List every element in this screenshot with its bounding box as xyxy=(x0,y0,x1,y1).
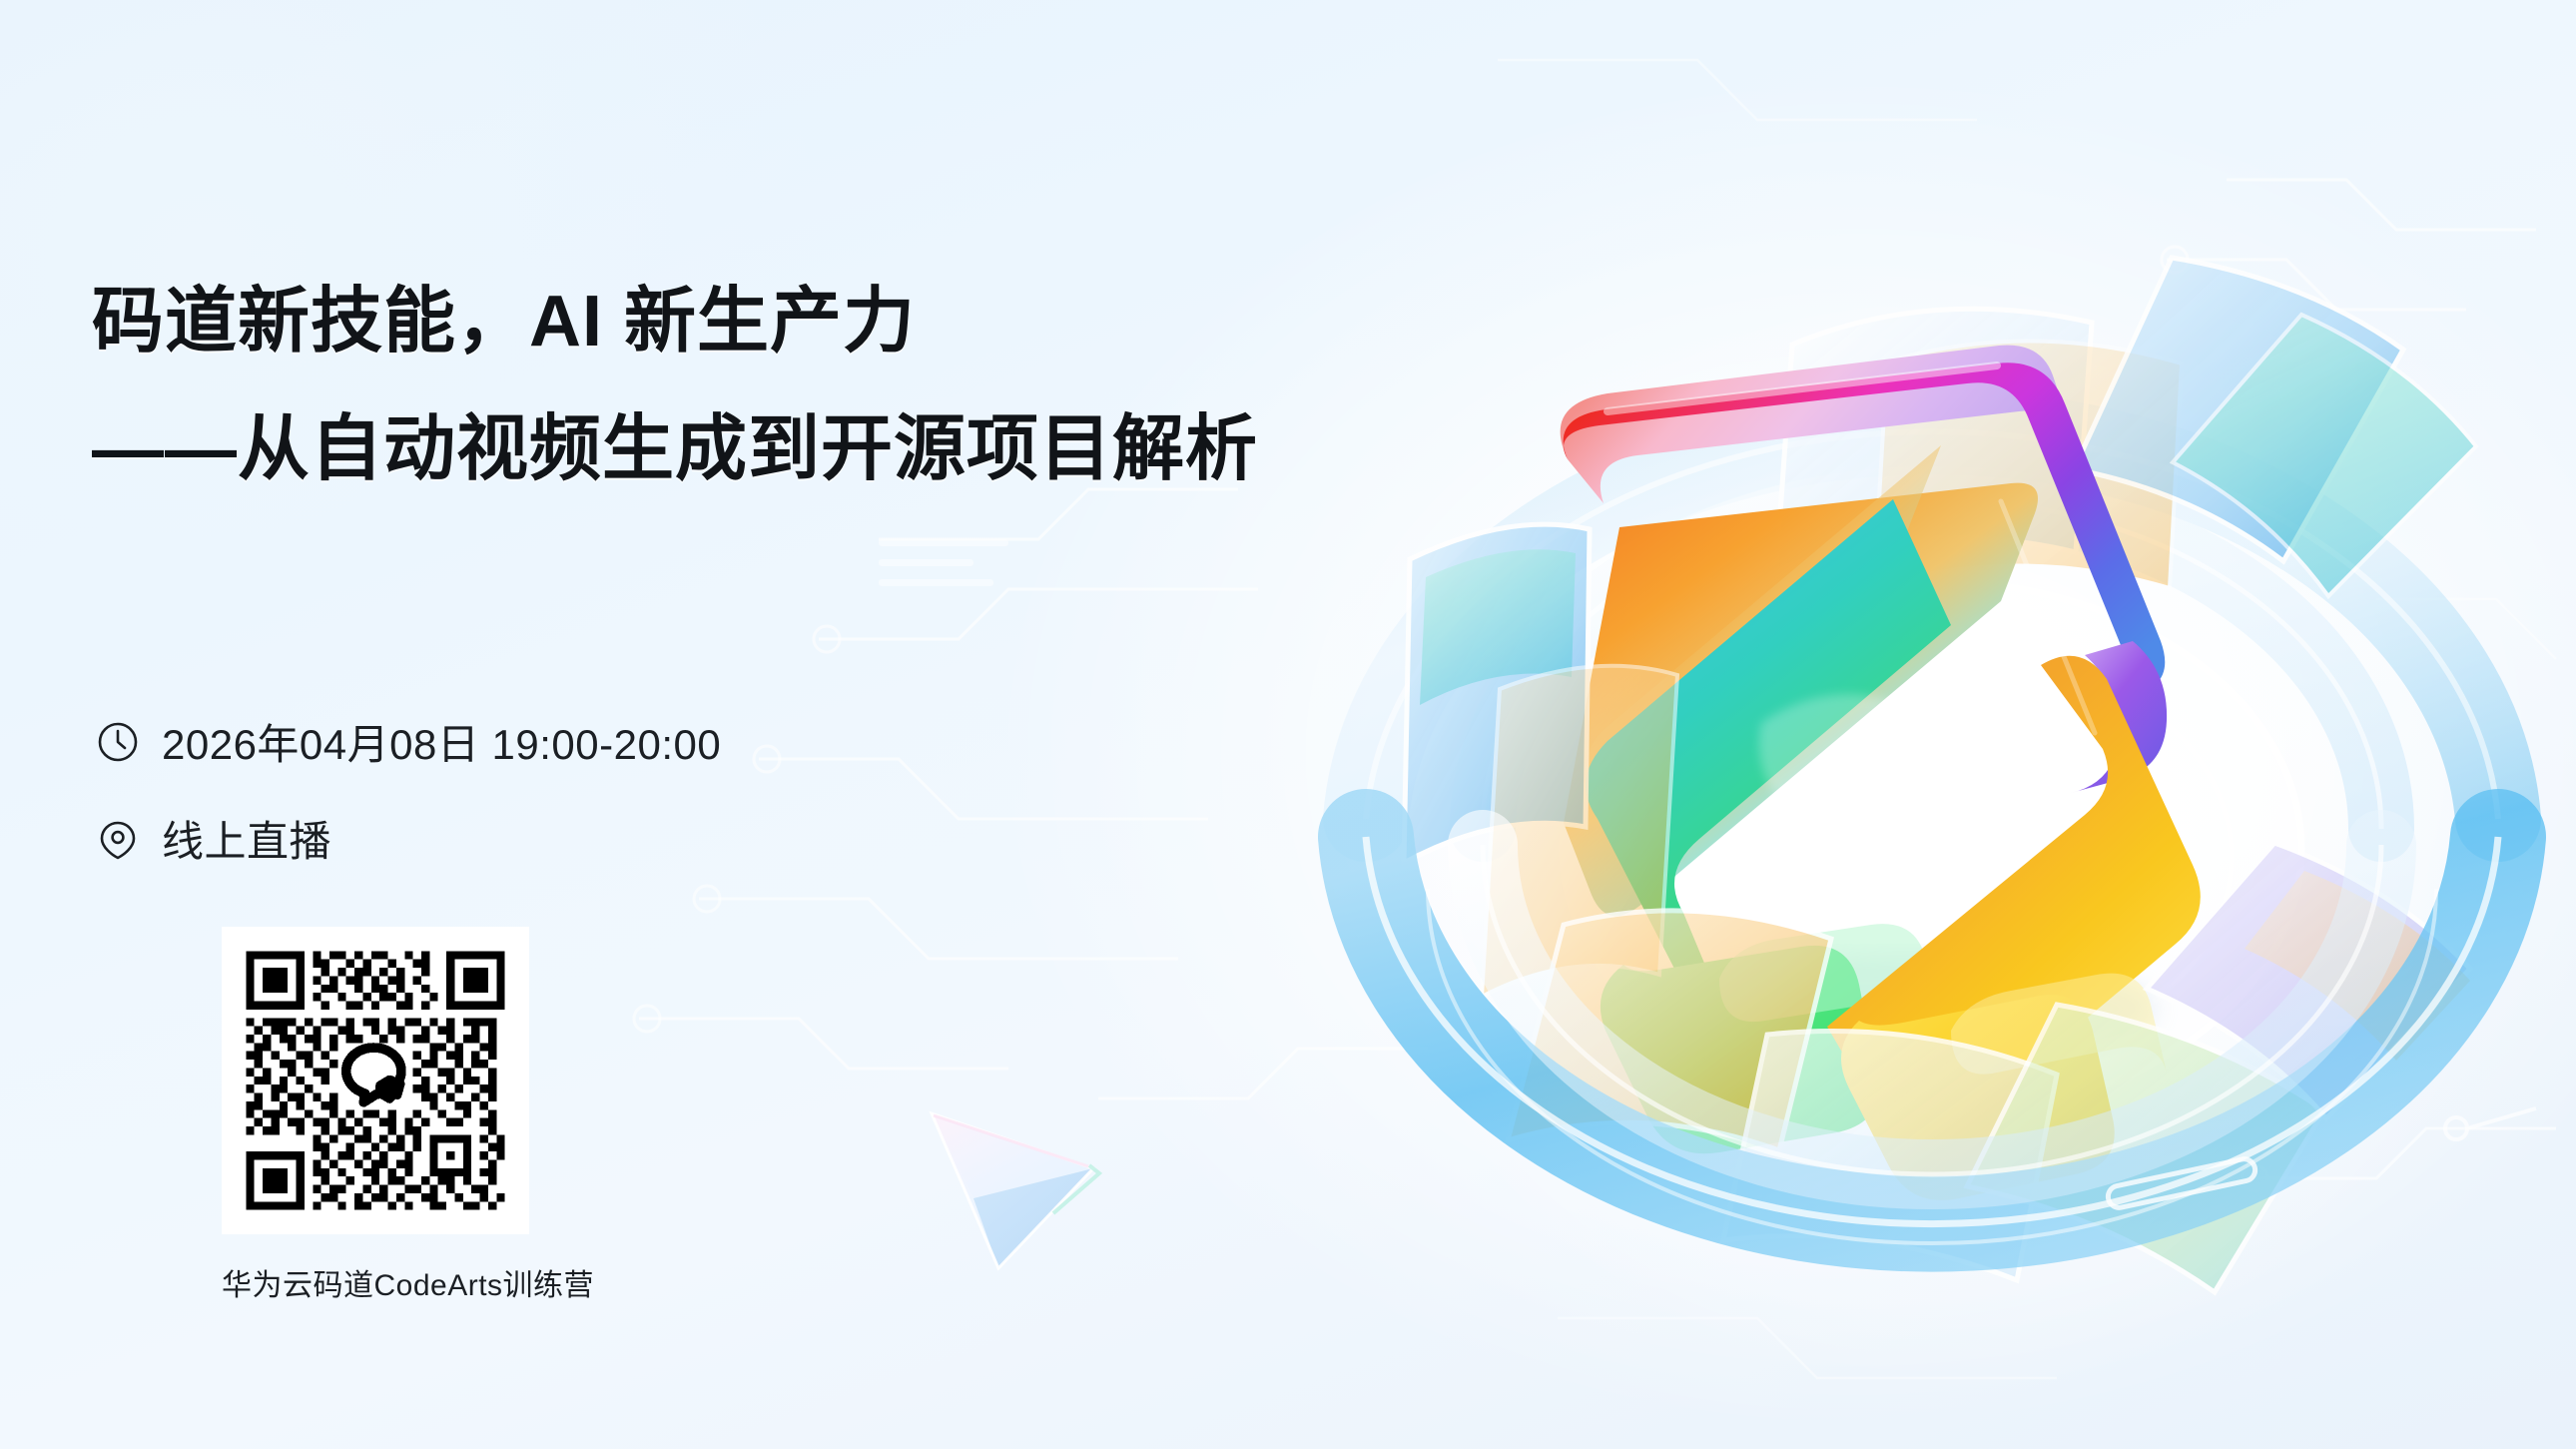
ring-outer-back xyxy=(1363,409,2501,829)
ribbon-shape xyxy=(1561,346,2201,1200)
qr-caption: 华为云码道CodeArts训练营 xyxy=(222,1260,529,1304)
qr-code[interactable] xyxy=(222,927,529,1234)
glass-ribbon-3d-illustration xyxy=(1268,130,2576,1449)
location-text: 线上直播 xyxy=(162,808,331,869)
datetime-row: 2026年04月08日 19:00-20:00 xyxy=(96,711,721,772)
node-dot-icon xyxy=(2445,1108,2536,1139)
glass-panels-back xyxy=(1776,258,2476,596)
ring-middle-front xyxy=(1483,845,2381,1174)
ring-outer-front xyxy=(1366,837,2498,1243)
title-line-2: ——从自动视频生成到开源项目解析 xyxy=(92,413,1258,485)
datetime-text: 2026年04月08日 19:00-20:00 xyxy=(162,711,721,772)
qr-block: 华为云码道CodeArts训练营 xyxy=(222,927,541,1304)
qr-code-svg xyxy=(238,943,513,1218)
location-pin-icon xyxy=(96,817,140,861)
meta-block: 2026年04月08日 19:00-20:00 线上直播 xyxy=(96,711,721,905)
poster-content: 码道新技能，AI 新生产力 ——从自动视频生成到开源项目解析 2026年04月0… xyxy=(0,0,1298,1449)
location-row: 线上直播 xyxy=(96,808,721,869)
inner-disc xyxy=(1563,581,2301,1116)
ring-middle-back xyxy=(1483,499,2381,829)
glass-panels-front xyxy=(1404,524,2470,1292)
title-block: 码道新技能，AI 新生产力 ——从自动视频生成到开源项目解析 xyxy=(92,286,1258,485)
title-line-1: 码道新技能，AI 新生产力 xyxy=(92,286,1258,358)
clock-icon xyxy=(96,720,140,764)
